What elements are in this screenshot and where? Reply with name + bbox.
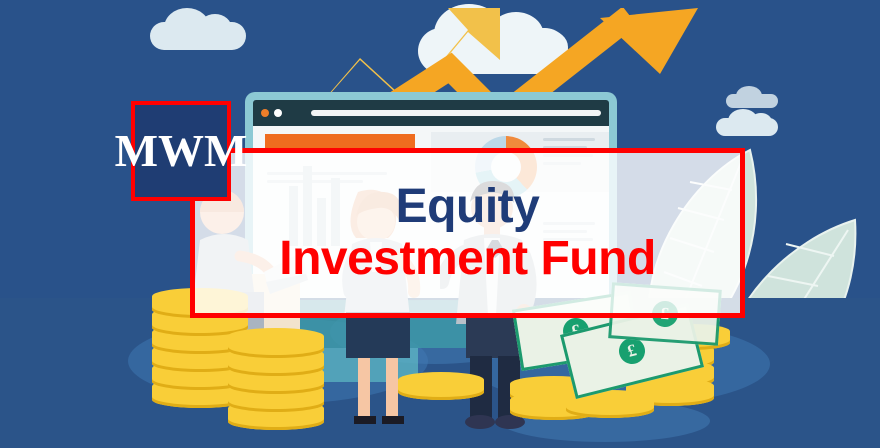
headline-line-1: Equity [396,183,540,231]
logo-monogram: MWM [115,128,248,174]
browser-url-bar[interactable] [311,110,601,116]
browser-title-bar [253,100,609,126]
text-line [543,138,595,141]
cloud-icon [726,94,778,108]
coin-stack [228,316,338,432]
headline-line-2: Investment Fund [279,235,656,283]
poster-canvas: £ £ £ Equity Investment Fund MWM [0,0,880,448]
headline-banner: Equity Investment Fund [190,148,745,318]
content-banner-block [265,134,415,148]
coin [398,372,484,400]
window-dot-white-icon [274,109,282,117]
window-dot-orange-icon [261,109,269,117]
cloud-icon [150,22,246,50]
brand-logo[interactable]: MWM [131,101,231,201]
